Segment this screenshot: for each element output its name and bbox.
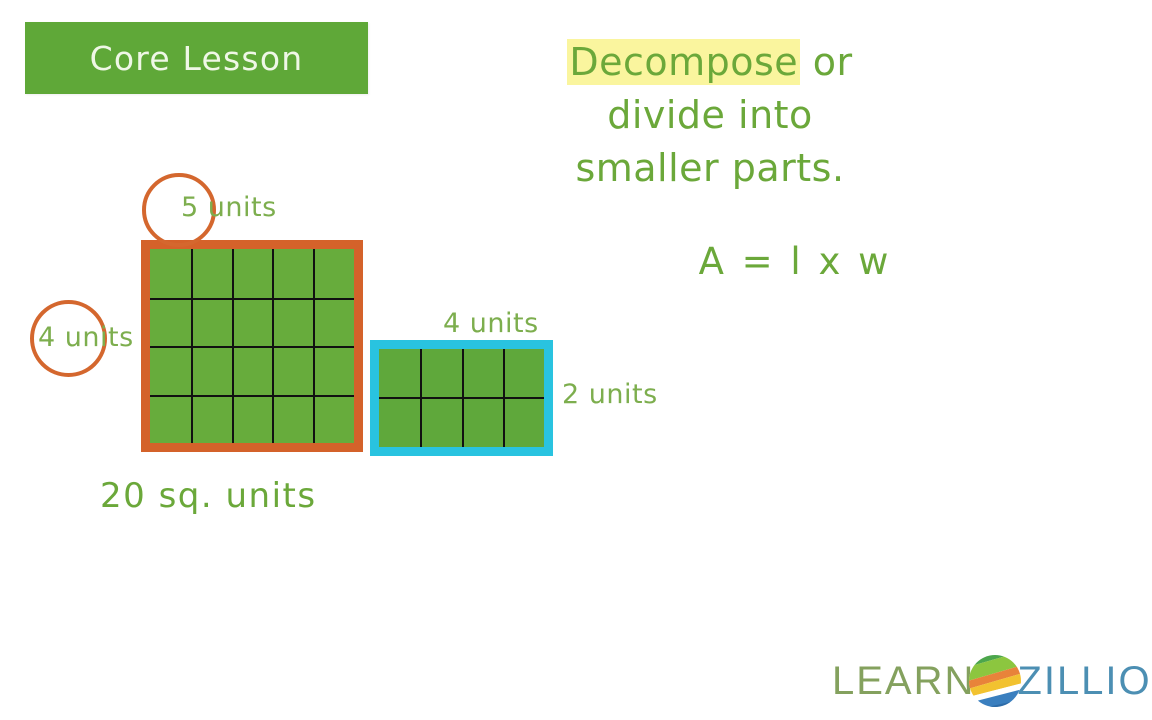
- grid-line-h: [150, 298, 354, 300]
- core-lesson-banner: Core Lesson: [25, 22, 368, 94]
- grid-line-h: [379, 397, 544, 399]
- label-decomposed-height: 2 units: [562, 379, 658, 410]
- original-rectangle: [141, 240, 363, 452]
- label-original-width: 5 units: [181, 192, 277, 223]
- logo-word-learn: LEARN: [832, 659, 975, 704]
- label-decomposed-width: 4 units: [443, 308, 539, 339]
- slide-canvas: Core Lesson Decompose or divide into sma…: [0, 0, 1152, 720]
- original-rectangle-fill: [150, 249, 354, 443]
- grid-line-h: [150, 346, 354, 348]
- headline-line-1: Decompose or: [500, 36, 920, 89]
- highlighted-term: Decompose: [567, 39, 800, 85]
- learnzillion-globe-icon: [967, 653, 1023, 709]
- core-lesson-label: Core Lesson: [90, 39, 304, 78]
- label-total-area: 20 sq. units: [100, 476, 317, 516]
- learnzillion-logo: LEARN ZILLION: [832, 650, 1132, 712]
- headline-line-3: smaller parts.: [500, 142, 920, 195]
- area-formula: A = l x w: [660, 240, 930, 283]
- grid-line-h: [150, 395, 354, 397]
- decomposed-rectangle: [370, 340, 553, 456]
- headline-line-2: divide into: [500, 89, 920, 142]
- decomposed-rectangle-fill: [379, 349, 544, 447]
- headline-text: Decompose or divide into smaller parts.: [500, 36, 920, 195]
- logo-word-zillion: ZILLION: [1017, 659, 1152, 704]
- headline-line-1-rest: or: [800, 40, 852, 84]
- label-original-height: 4 units: [38, 322, 134, 353]
